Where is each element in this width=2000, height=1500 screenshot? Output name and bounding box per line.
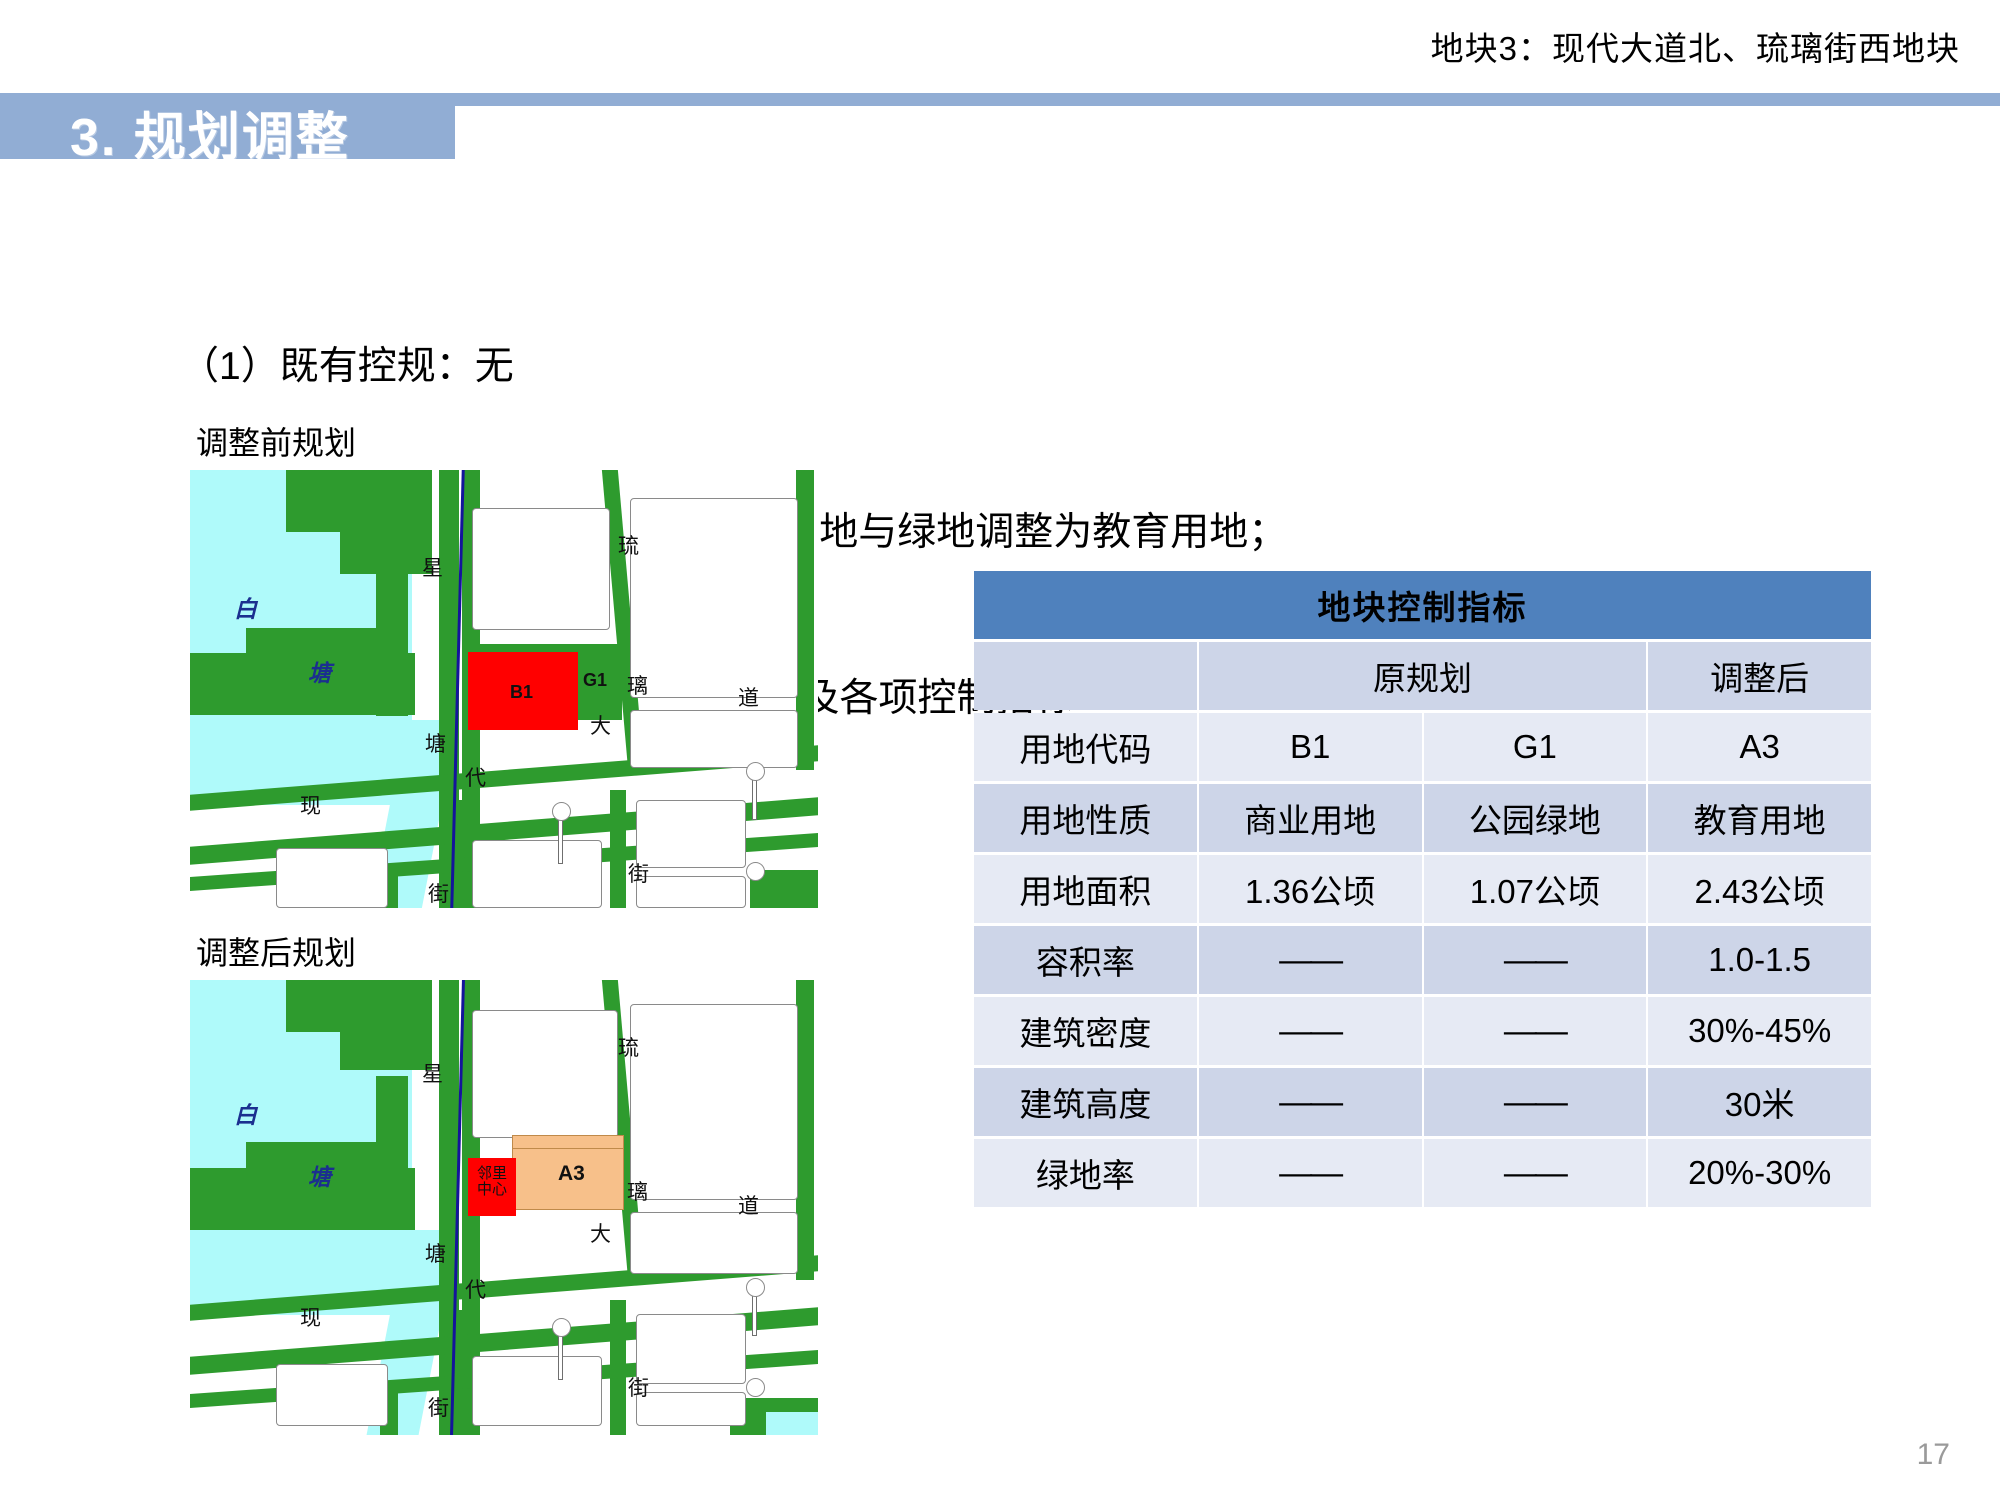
cell-original-b1: B1: [1199, 713, 1422, 781]
block-north-1: [472, 1010, 618, 1138]
header-title: 地块3：现代大道北、琉璃街西地块: [1431, 22, 1960, 70]
cell-original-g1: ——: [1424, 1068, 1647, 1136]
parcel-label-neighborhood-center: 邻里中心: [470, 1166, 514, 1198]
cell-original-b1: ——: [1199, 1068, 1422, 1136]
table-title-row: 地块控制指标: [974, 571, 1871, 639]
block-north-1: [472, 508, 610, 630]
row-label: 建筑高度: [974, 1068, 1197, 1136]
greenbelt-left-strip: [376, 566, 408, 716]
map-label-li: 璃: [627, 1176, 648, 1206]
water-bottom-right: [766, 1412, 818, 1435]
cell-original-b1: 商业用地: [1199, 784, 1422, 852]
map-label-xing: 星: [422, 552, 443, 582]
table-header-row: 原规划 调整后: [974, 642, 1871, 710]
greenbelt-top2: [340, 470, 432, 574]
map-label-xing: 星: [422, 1058, 443, 1088]
row-label: 建筑密度: [974, 997, 1197, 1065]
column-header-original: 原规划: [1199, 642, 1647, 710]
block-s-1: [472, 840, 602, 908]
block-se-2: [636, 876, 746, 908]
map-label-tang-street: 塘: [425, 1238, 446, 1268]
table-row: 用地性质 商业用地 公园绿地 教育用地: [974, 784, 1871, 852]
cell-original-b1: 1.36公顷: [1199, 855, 1422, 923]
metrics-table-wrapper: 地块控制指标 原规划 调整后 用地代码 B1 G1 A3 用地性质 商业用地 公…: [972, 568, 1873, 1210]
row-label: 用地面积: [974, 855, 1197, 923]
cell-adjusted-a3: 2.43公顷: [1648, 855, 1871, 923]
map-label-bai: 白: [234, 1096, 257, 1130]
cell-original-g1: G1: [1424, 713, 1647, 781]
row-label: 绿地率: [974, 1139, 1197, 1207]
cell-original-g1: ——: [1424, 997, 1647, 1065]
cell-adjusted-a3: 30%-45%: [1648, 997, 1871, 1065]
map-label-liu: 琉: [618, 530, 639, 560]
cell-adjusted-a3: 教育用地: [1648, 784, 1871, 852]
cul-de-sac-head-3: [746, 862, 765, 881]
block-sw-1: [276, 1364, 388, 1426]
cell-original-g1: ——: [1424, 1139, 1647, 1207]
map-label-tang-street: 塘: [425, 728, 446, 758]
map-label-dai: 代: [465, 762, 486, 792]
map-label-tang: 塘: [308, 654, 331, 688]
row-label: 用地性质: [974, 784, 1197, 852]
map-label-liu: 琉: [618, 1032, 639, 1062]
map-label-jie-left: 街: [428, 1392, 449, 1422]
metrics-table-body: 地块控制指标 原规划 调整后 用地代码 B1 G1 A3 用地性质 商业用地 公…: [974, 571, 1871, 1207]
block-s-1: [472, 1356, 602, 1426]
greenbelt-top2: [340, 980, 432, 1070]
body-line-1: （1）既有控规：无: [180, 339, 1287, 394]
map-label-xian: 现: [300, 790, 321, 820]
map-label-da: 大: [590, 710, 611, 740]
page-number: 17: [1917, 1438, 1950, 1472]
cul-de-sac-head-1: [552, 802, 571, 821]
map-label-jie-right: 街: [628, 858, 649, 888]
block-north-2: [630, 498, 798, 698]
metrics-table: 地块控制指标 原规划 调整后 用地代码 B1 G1 A3 用地性质 商业用地 公…: [972, 568, 1873, 1210]
map-caption-after: 调整后规划: [196, 928, 356, 974]
cell-original-g1: ——: [1424, 926, 1647, 994]
block-se-1: [636, 1314, 746, 1384]
column-header-adjusted: 调整后: [1648, 642, 1871, 710]
table-row: 用地面积 1.36公顷 1.07公顷 2.43公顷: [974, 855, 1871, 923]
table-row: 建筑密度 —— —— 30%-45%: [974, 997, 1871, 1065]
cell-original-b1: ——: [1199, 997, 1422, 1065]
column-header-blank: [974, 642, 1197, 710]
map-before-adjustment: B1 G1 白 塘 星 塘 代 现 街 琉 璃 大 道 街: [190, 470, 818, 908]
block-se-2: [636, 1392, 746, 1426]
parcel-code-G1: G1: [583, 670, 607, 691]
block-se-1: [636, 800, 746, 868]
greenbelt-far-east: [796, 470, 814, 770]
cul-de-sac-head-1: [552, 1318, 571, 1337]
map-label-jie-right: 街: [628, 1372, 649, 1402]
block-sw-1: [276, 848, 388, 908]
cell-adjusted-a3: 1.0-1.5: [1648, 926, 1871, 994]
map-after-adjustment: 邻里中心 A3 白 塘 星 塘 代 现 街 琉 璃 大 道 街: [190, 980, 818, 1435]
map-label-dao: 道: [738, 682, 759, 712]
slide-root: 地块3：现代大道北、琉璃街西地块 3. 规划调整 （1）既有控规：无 （2）调整…: [0, 0, 2000, 1500]
parcel-code-A3: A3: [558, 1162, 585, 1186]
row-label: 容积率: [974, 926, 1197, 994]
table-row: 容积率 —— —— 1.0-1.5: [974, 926, 1871, 994]
table-row: 用地代码 B1 G1 A3: [974, 713, 1871, 781]
map-label-dao: 道: [738, 1190, 759, 1220]
cell-adjusted-a3: 30米: [1648, 1068, 1871, 1136]
map-label-xian: 现: [300, 1302, 321, 1332]
cul-de-sac-head-2: [746, 1278, 765, 1297]
cell-original-b1: ——: [1199, 926, 1422, 994]
map-label-li: 璃: [627, 670, 648, 700]
cul-de-sac-head-2: [746, 762, 765, 781]
cell-adjusted-a3: 20%-30%: [1648, 1139, 1871, 1207]
map-label-tang: 塘: [308, 1158, 331, 1192]
parcel-code-B1: B1: [510, 682, 533, 703]
table-title: 地块控制指标: [974, 571, 1871, 639]
map-label-jie-left: 街: [428, 878, 449, 908]
map-caption-before: 调整前规划: [196, 418, 356, 464]
cell-original-g1: 1.07公顷: [1424, 855, 1647, 923]
page-title: 3. 规划调整: [70, 95, 350, 170]
table-row: 建筑高度 —— —— 30米: [974, 1068, 1871, 1136]
row-label: 用地代码: [974, 713, 1197, 781]
block-east-1: [630, 1212, 798, 1274]
map-label-da: 大: [590, 1218, 611, 1248]
cell-adjusted-a3: A3: [1648, 713, 1871, 781]
table-row: 绿地率 —— —— 20%-30%: [974, 1139, 1871, 1207]
cell-original-g1: 公园绿地: [1424, 784, 1647, 852]
block-north-2: [630, 1004, 798, 1200]
map-label-dai: 代: [465, 1274, 486, 1304]
block-east-1: [630, 710, 798, 768]
cul-de-sac-head-3: [746, 1378, 765, 1397]
map-label-bai: 白: [234, 590, 257, 624]
greenbelt-left-strip: [376, 1076, 408, 1226]
greenbelt-far-east: [796, 980, 814, 1280]
cell-original-b1: ——: [1199, 1139, 1422, 1207]
